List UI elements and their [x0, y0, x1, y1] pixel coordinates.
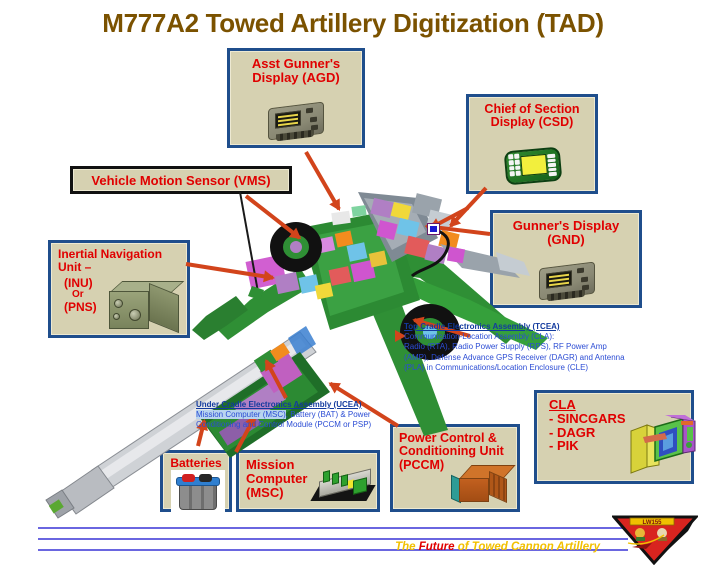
- callout-chief-of-section-display[interactable]: Chief of Section Display (CSD): [466, 94, 598, 194]
- gnd-label-line1: Gunner's Display: [495, 219, 637, 233]
- tagline-post: of Towed Cannon Artillery: [455, 541, 600, 553]
- footer-tagline: The Future of Towed Cannon Artillery: [395, 541, 600, 553]
- ucea-line1-rest: , Battery (BAT) & Power: [286, 410, 371, 419]
- tagline-emphasis: Future: [419, 541, 455, 553]
- lw155-unit-insignia: LW155: [612, 513, 698, 565]
- batteries-label: Batteries: [165, 457, 227, 470]
- ucea-highlighted-term: Mission Computer (MSC): [196, 410, 286, 419]
- inu-label-line2: Unit –: [58, 261, 185, 274]
- ucea-line2: Conditioning and Control Module (PCCM or…: [196, 420, 371, 430]
- gnd-label-line2: (GND): [495, 233, 637, 247]
- tcea-line2: Radio (RTA), Radio Power Supply (RPS), R…: [404, 342, 625, 352]
- tcea-line4: (PLA) in Communications/Location Enclosu…: [404, 363, 625, 373]
- tcea-heading: Top Cradle Electronics Assembly (TCEA): [404, 322, 625, 332]
- pccm-label-line2: Conditioning Unit: [399, 445, 515, 458]
- csd-label-line2: Display (CSD): [471, 116, 593, 129]
- callout-gunners-display[interactable]: Gunner's Display (GND): [490, 210, 642, 308]
- inu-enclosure-icon: [109, 279, 187, 331]
- handheld-display-icon: [266, 99, 328, 141]
- cla-exploded-cad-icon: [613, 415, 699, 477]
- arrow-vms-to-gun: [245, 194, 301, 239]
- tagline-pre: The: [395, 541, 419, 553]
- slide-canvas: M777A2 Towed Artillery Digitization (TAD…: [0, 0, 706, 566]
- page-title: M777A2 Towed Artillery Digitization (TAD…: [0, 8, 706, 39]
- tcea-text-block: Top Cradle Electronics Assembly (TCEA) C…: [404, 322, 625, 373]
- battery-pack-icon: [171, 470, 225, 514]
- ucea-text-block: Under Cradle Electronics Assembly (UCEA)…: [196, 400, 371, 431]
- inu-label-line1: Inertial Navigation: [58, 248, 185, 261]
- csd-label-line1: Chief of Section: [471, 103, 593, 116]
- tcea-line1: Communication-Location Assembly (CLA):: [404, 332, 625, 342]
- ucea-heading: Under Cradle Electronics Assembly (UCEA): [196, 400, 371, 410]
- handheld-display-icon: [537, 259, 599, 301]
- agd-label-line2: Display (AGD): [232, 71, 360, 85]
- arrow-agd-to-gun: [304, 151, 340, 210]
- callout-power-control-conditioning-unit[interactable]: Power Control & Conditioning Unit (PCCM): [390, 424, 520, 512]
- callout-mission-computer[interactable]: Mission Computer (MSC): [236, 450, 380, 512]
- callout-asst-gunners-display[interactable]: Asst Gunner's Display (AGD): [227, 48, 365, 148]
- antenna-connector-marker: [428, 224, 439, 234]
- callout-vehicle-motion-sensor[interactable]: Vehicle Motion Sensor (VMS): [70, 166, 292, 194]
- agd-label-line1: Asst Gunner's: [232, 57, 360, 71]
- badge-text: LW155: [642, 520, 662, 526]
- vms-label: Vehicle Motion Sensor (VMS): [75, 171, 287, 191]
- arrow-inu-to-gun: [186, 262, 274, 280]
- arrow-ucea-to-gun: [265, 360, 288, 399]
- pccm-label-line1: Power Control &: [399, 432, 515, 445]
- cla-heading: CLA: [549, 398, 689, 412]
- callout-inertial-navigation-unit[interactable]: Inertial Navigation Unit – (INU) Or (PNS…: [48, 240, 190, 338]
- callout-batteries[interactable]: Batteries: [160, 450, 232, 512]
- callout-communication-location-assembly[interactable]: CLA - SINCGARS - DAGR - PIK: [534, 390, 694, 484]
- mission-computer-chassis-icon: [313, 463, 375, 505]
- rugged-tablet-icon: [501, 143, 565, 187]
- power-unit-icon: [451, 463, 511, 509]
- tcea-line3: (AMP), Defense Advance GPS Receiver (DAG…: [404, 353, 625, 363]
